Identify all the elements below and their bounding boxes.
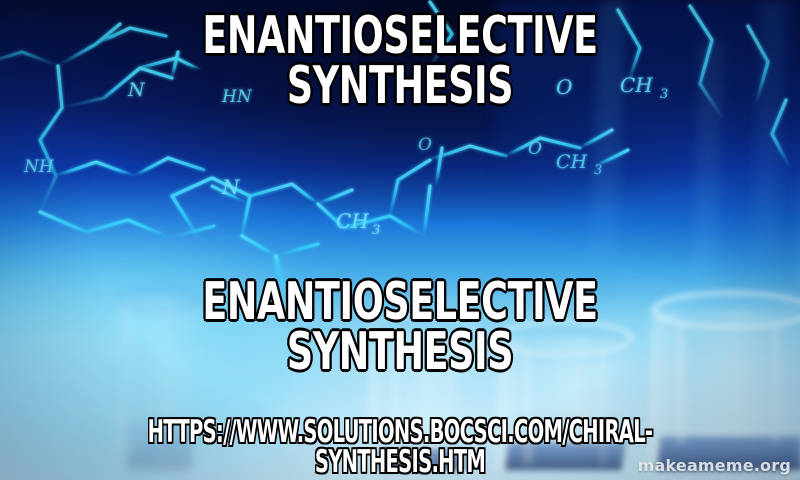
meme-top-text: ENANTIOSELECTIVE SYNTHESIS xyxy=(88,12,712,112)
meme-image: N NH N HN CH 3 O CH 3 O CH 3 O xyxy=(0,0,800,480)
meme-middle-text: ENANTIOSELECTIVE SYNTHESIS xyxy=(88,278,712,378)
makeameme-watermark: makeameme.org xyxy=(638,456,791,475)
meme-bottom-url-text: HTTPS://WWW.SOLUTIONS.BOCSCI.COM/CHIRAL-… xyxy=(120,418,680,478)
